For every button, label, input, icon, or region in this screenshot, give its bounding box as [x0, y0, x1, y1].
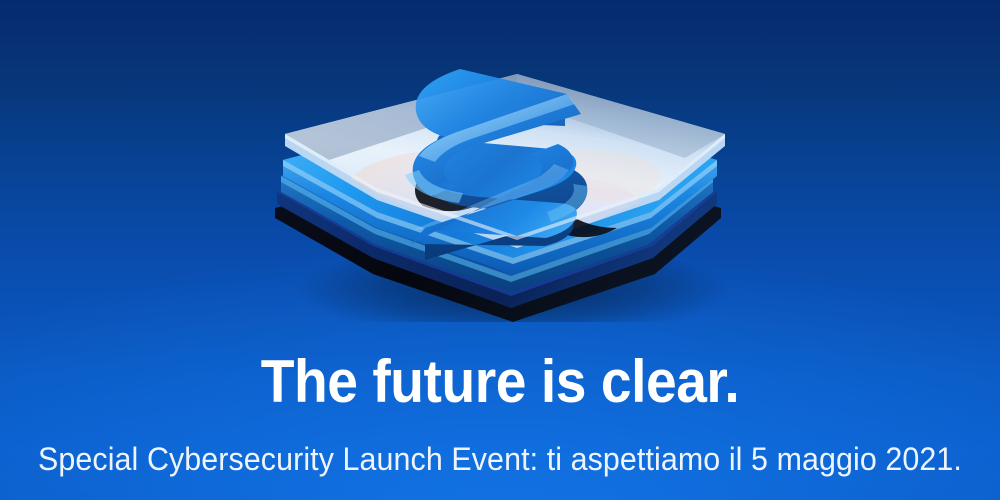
logo-svg — [255, 22, 745, 322]
event-subtitle: Special Cybersecurity Launch Event: ti a… — [25, 442, 975, 477]
page-title: The future is clear. — [40, 352, 960, 412]
promo-banner: The future is clear. Special Cybersecuri… — [0, 0, 1000, 500]
stacked-shield-s-logo — [255, 22, 745, 322]
